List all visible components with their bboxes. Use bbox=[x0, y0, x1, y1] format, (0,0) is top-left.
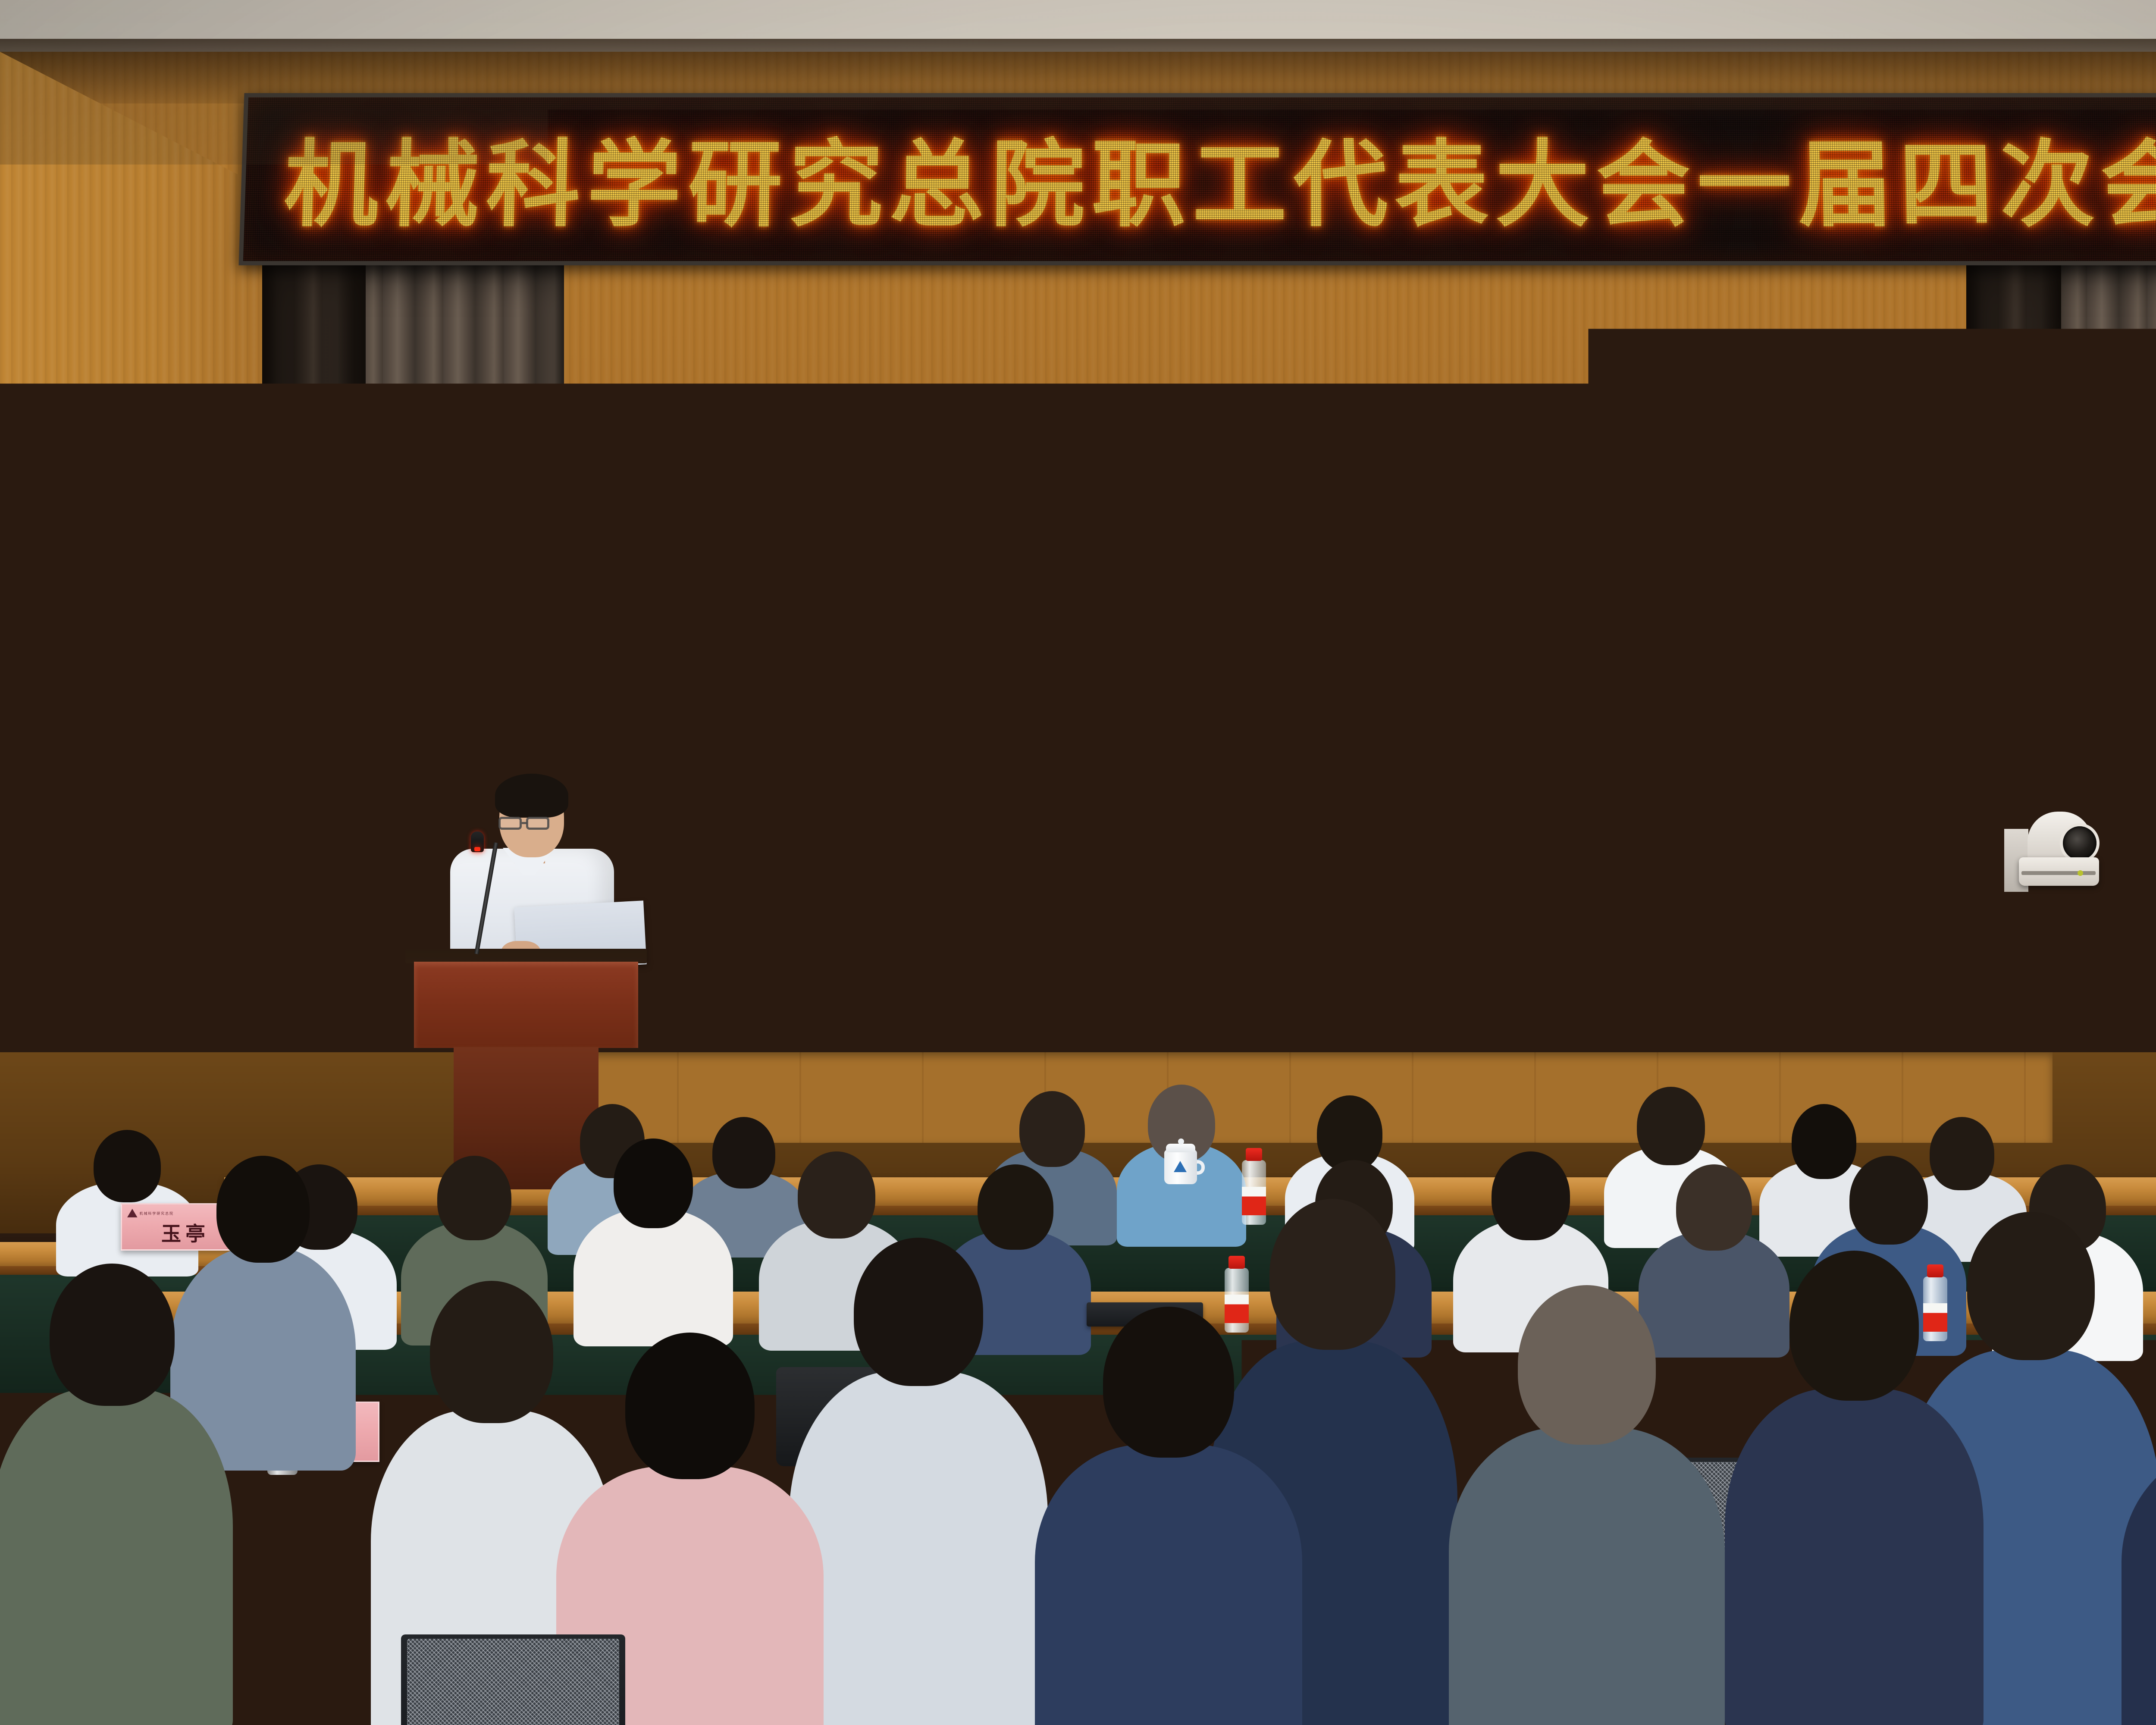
audience-head bbox=[978, 1164, 1053, 1250]
audience-member bbox=[2139, 1298, 2156, 1725]
podium-front-panel bbox=[414, 962, 638, 1048]
audience-head bbox=[216, 1156, 310, 1263]
camera-indicator-led bbox=[2078, 870, 2083, 876]
camera-head bbox=[2028, 812, 2092, 864]
speaker-hair bbox=[495, 774, 568, 818]
camera-ir-strip bbox=[2021, 871, 2096, 875]
audience-head bbox=[1518, 1285, 1656, 1445]
audience-head bbox=[1492, 1151, 1570, 1240]
audience-head bbox=[437, 1156, 511, 1240]
audience-head bbox=[50, 1264, 175, 1406]
table-row-foreground bbox=[561, 1621, 2027, 1686]
audience-head bbox=[1019, 1091, 1085, 1167]
slide-title-block: 机械科学研究总院 职工代表大会一届四次会议 bbox=[585, 578, 2043, 797]
audience-head bbox=[430, 1281, 553, 1423]
left-side-wall bbox=[0, 52, 276, 1190]
mug-knob bbox=[1178, 1138, 1184, 1145]
speaker-glasses-icon bbox=[526, 817, 549, 830]
name-plate-triangle-icon bbox=[127, 1209, 138, 1217]
name-plate-org: 机械科学研究总院 bbox=[140, 1211, 174, 1216]
audience-head bbox=[1103, 1307, 1234, 1458]
bottle-cap bbox=[1246, 1148, 1262, 1161]
audience-head bbox=[798, 1151, 875, 1239]
camera-lens-icon bbox=[2063, 826, 2096, 860]
audience-member bbox=[0, 1264, 224, 1725]
audience-head bbox=[614, 1138, 693, 1228]
table-edge bbox=[561, 1682, 2027, 1699]
led-banner-text: 机械科学研究总院职工代表大会一届四次会议 bbox=[282, 109, 2156, 245]
audience-head bbox=[625, 1333, 755, 1479]
audience-head bbox=[1789, 1251, 1919, 1401]
audience-head bbox=[854, 1238, 983, 1386]
mug-logo-icon bbox=[1174, 1161, 1187, 1172]
audience-torso bbox=[0, 1389, 233, 1725]
slide-title-line-2: 职工代表大会一届四次会议 bbox=[585, 704, 2043, 797]
microphone-indicator-led bbox=[474, 847, 480, 851]
speaker-glasses-icon bbox=[498, 817, 522, 830]
name-plate-logo: 机械科学研究总院 bbox=[127, 1209, 174, 1217]
slide-title-line-1: 机械科学研究总院 bbox=[586, 578, 2042, 671]
speaker-glasses-bridge bbox=[522, 822, 527, 824]
projection-screen-frame: 机械科学研究总院 职工代表大会一届四次会议 机械科学研究总院 China Aca… bbox=[554, 417, 2055, 1142]
audience-head bbox=[1967, 1212, 2095, 1360]
mug-lid bbox=[1166, 1144, 1195, 1152]
conference-hall-photo: 机械科学研究总院职工代表大会一届四次会议 机械科学研究总院 职工代表大会一届四次… bbox=[0, 0, 2156, 1725]
audience-head bbox=[1676, 1164, 1752, 1251]
podium-top-surface bbox=[405, 949, 647, 963]
tea-mug bbox=[1164, 1143, 1204, 1184]
led-banner-display: 机械科学研究总院职工代表大会一届四次会议 bbox=[238, 93, 2156, 265]
projection-screen: 机械科学研究总院 职工代表大会一届四次会议 机械科学研究总院 China Aca… bbox=[583, 449, 2044, 1139]
ptz-camera-icon bbox=[2004, 806, 2103, 892]
audience-head bbox=[94, 1130, 161, 1202]
audience-head bbox=[1637, 1087, 1705, 1165]
